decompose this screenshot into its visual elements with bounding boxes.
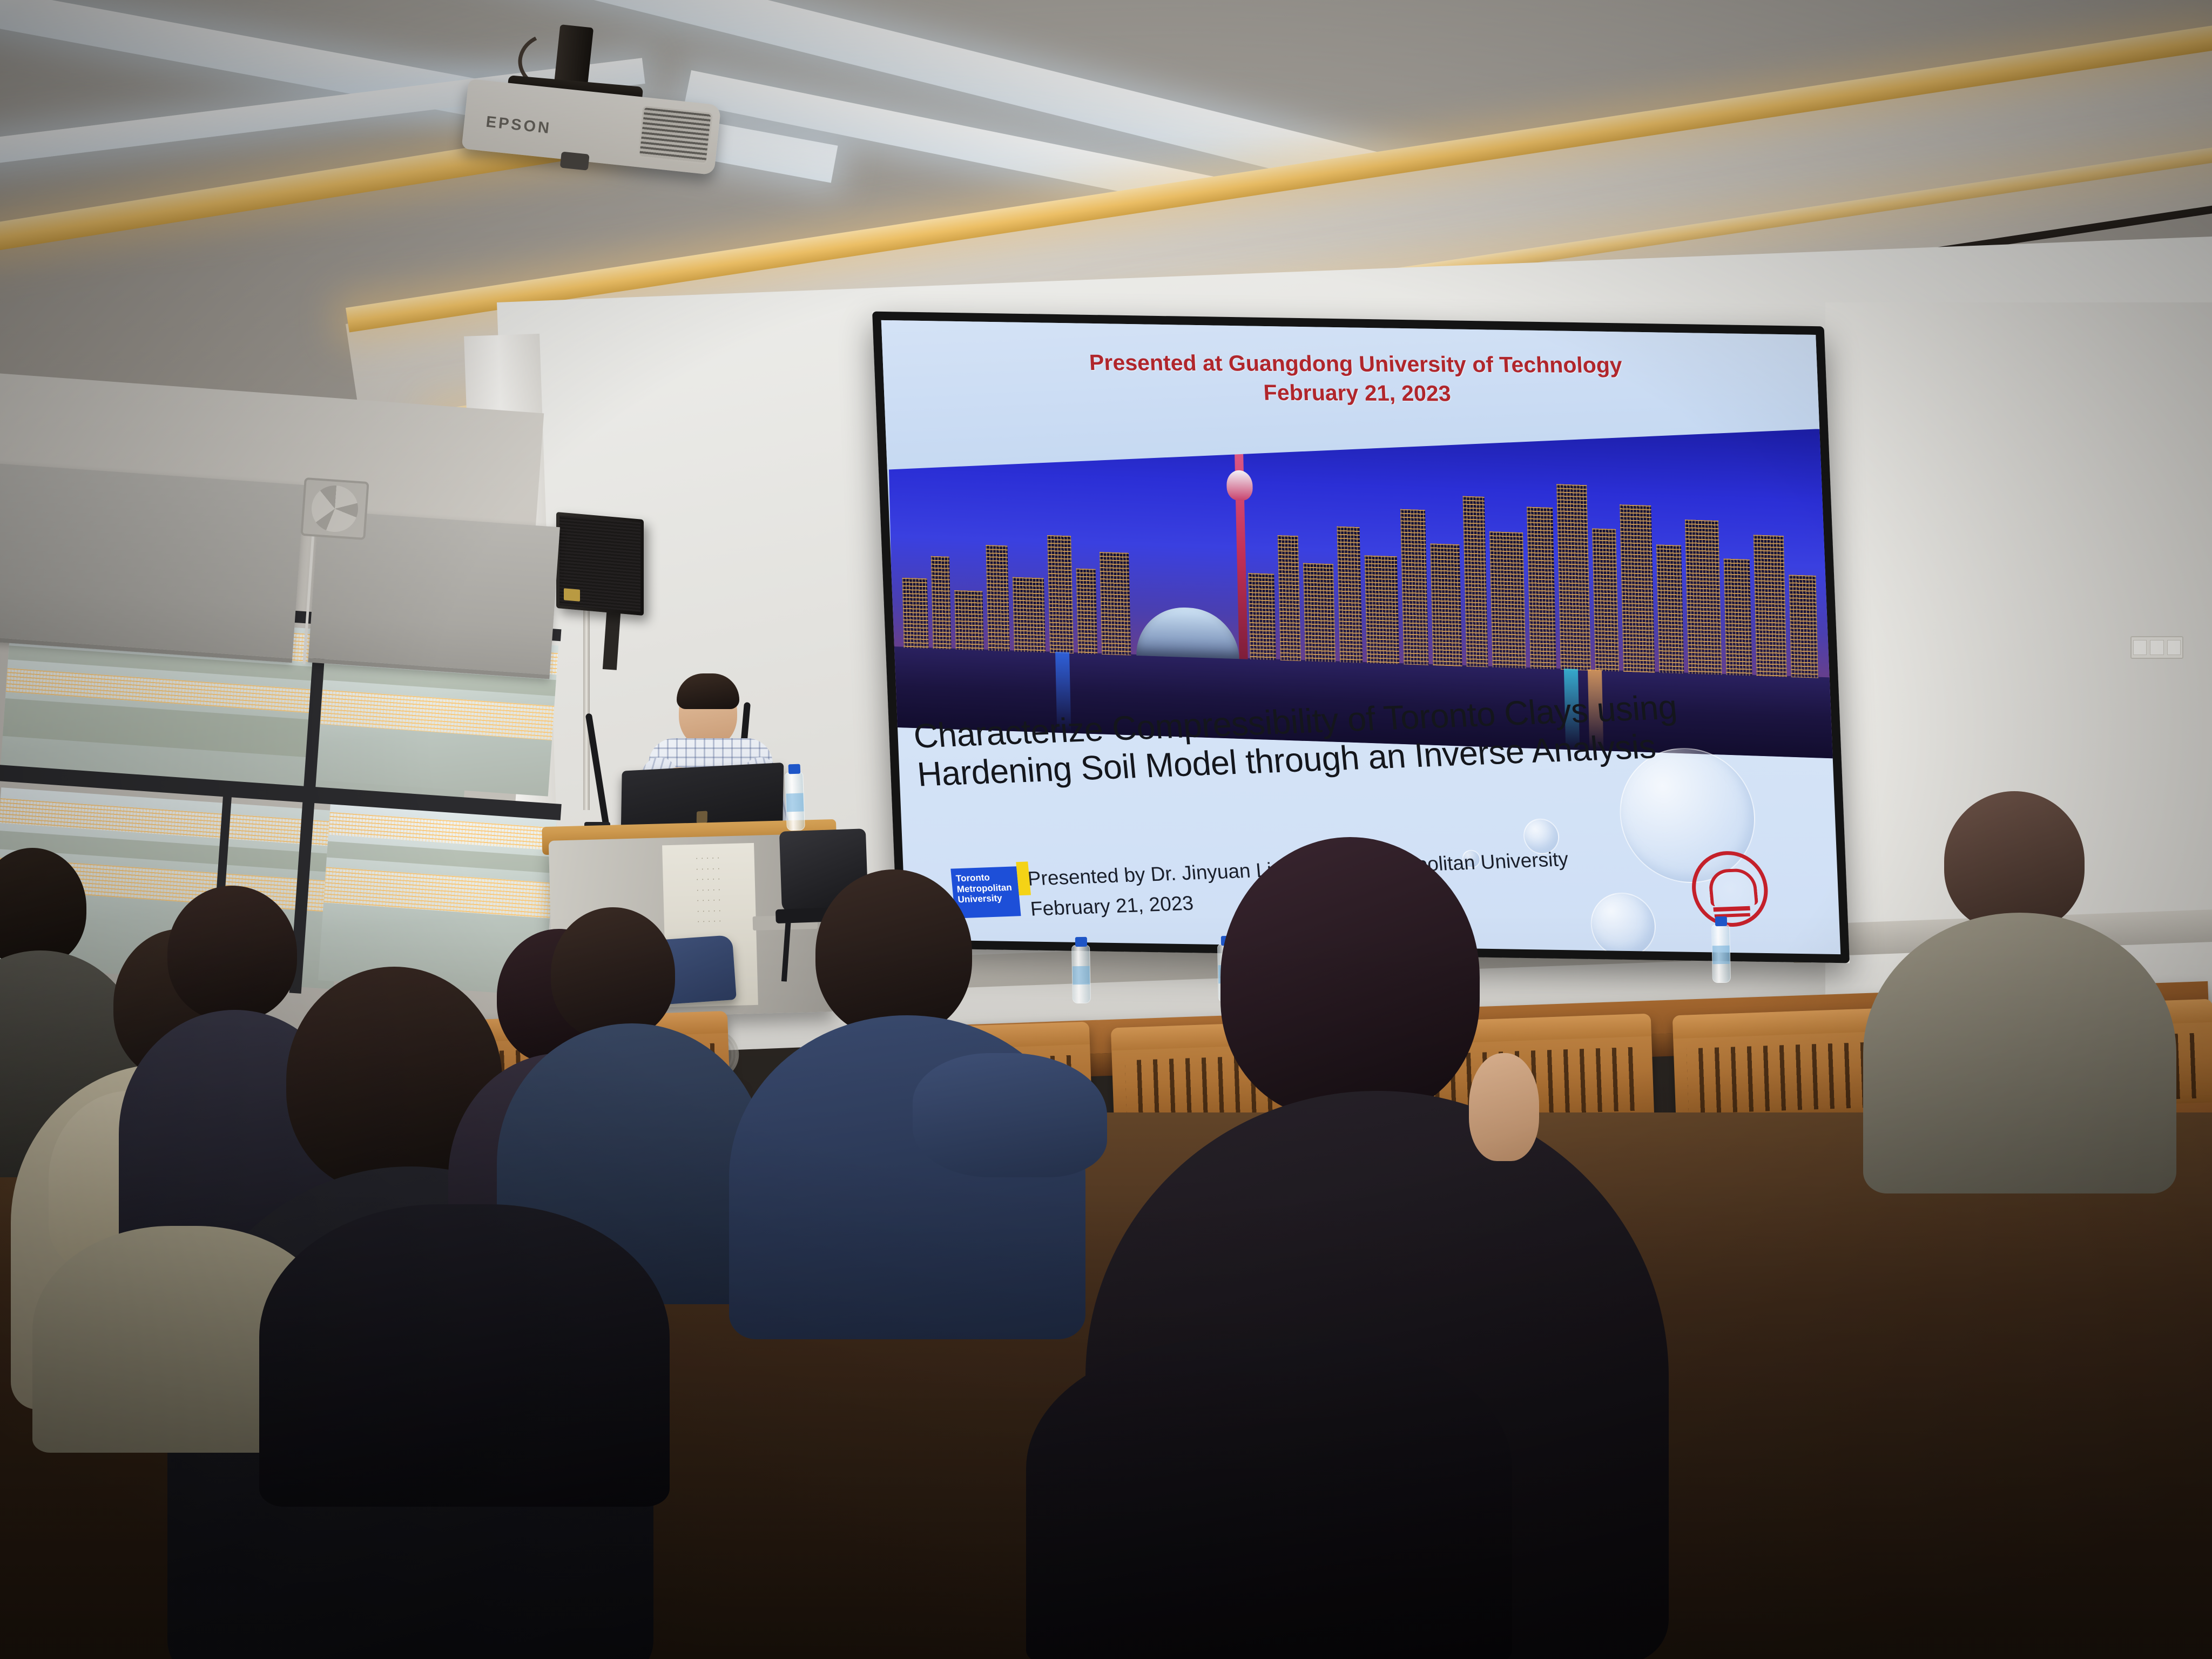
attendee-glasses-head: [167, 886, 297, 1021]
laptop-logo-icon: [697, 811, 707, 823]
attendee-back-right-body: [259, 1204, 670, 1507]
speaker-pole: [583, 605, 590, 810]
tmu-logo-text: Toronto Metropolitan University: [955, 872, 1012, 905]
bottle-cap-icon: [788, 764, 801, 774]
wall-loudspeaker: [556, 512, 644, 616]
attendee-woman-black-head: [1220, 837, 1480, 1118]
attendee-woman-black-hand: [1469, 1053, 1539, 1161]
attendee-bald-man-head: [1944, 791, 2085, 932]
wall-fan-icon: [300, 477, 369, 540]
chair-leg-1: [781, 922, 791, 981]
speaker-badge-icon: [564, 588, 580, 602]
attendee-navy-hood-head: [551, 907, 675, 1040]
podium-engraved-text: ···································: [676, 852, 743, 928]
attendee-bald-man-body: [1863, 913, 2176, 1193]
bottle-label: [786, 793, 804, 812]
attendee-blue-jacket-arm: [913, 1053, 1107, 1177]
window-blind-left[interactable]: [0, 463, 305, 663]
projector-lens-icon: [560, 151, 590, 170]
light-switch-plate[interactable]: [2130, 636, 2183, 659]
slide-header-line2: February 21, 2023: [1019, 376, 1696, 409]
rogers-centre-dome: [1135, 606, 1239, 659]
light-switch-1[interactable]: [2133, 640, 2147, 655]
podium-brand-label: [574, 902, 578, 914]
light-switch-2[interactable]: [2150, 640, 2163, 655]
projector-brand-label: EPSON: [485, 113, 552, 138]
water-bottle-row1-c[interactable]: [1711, 925, 1731, 983]
light-switch-3[interactable]: [2167, 640, 2181, 655]
lecture-hall-photo: EPSON: [0, 0, 2212, 1659]
slide-header-text: Presented at Guangdong University of Tec…: [1017, 347, 1696, 409]
attendee-foreground-dark-body: [1026, 1339, 1512, 1659]
water-bottle-podium[interactable]: [785, 772, 805, 831]
water-bottle-row1-a[interactable]: [1071, 945, 1091, 1004]
cn-tower-pod: [1226, 470, 1253, 501]
attendee-blue-jacket-head: [815, 869, 972, 1037]
slide-header-line1: Presented at Guangdong University of Tec…: [1017, 347, 1694, 380]
projector-vent-icon: [638, 106, 713, 165]
presenter-hair: [677, 673, 739, 709]
